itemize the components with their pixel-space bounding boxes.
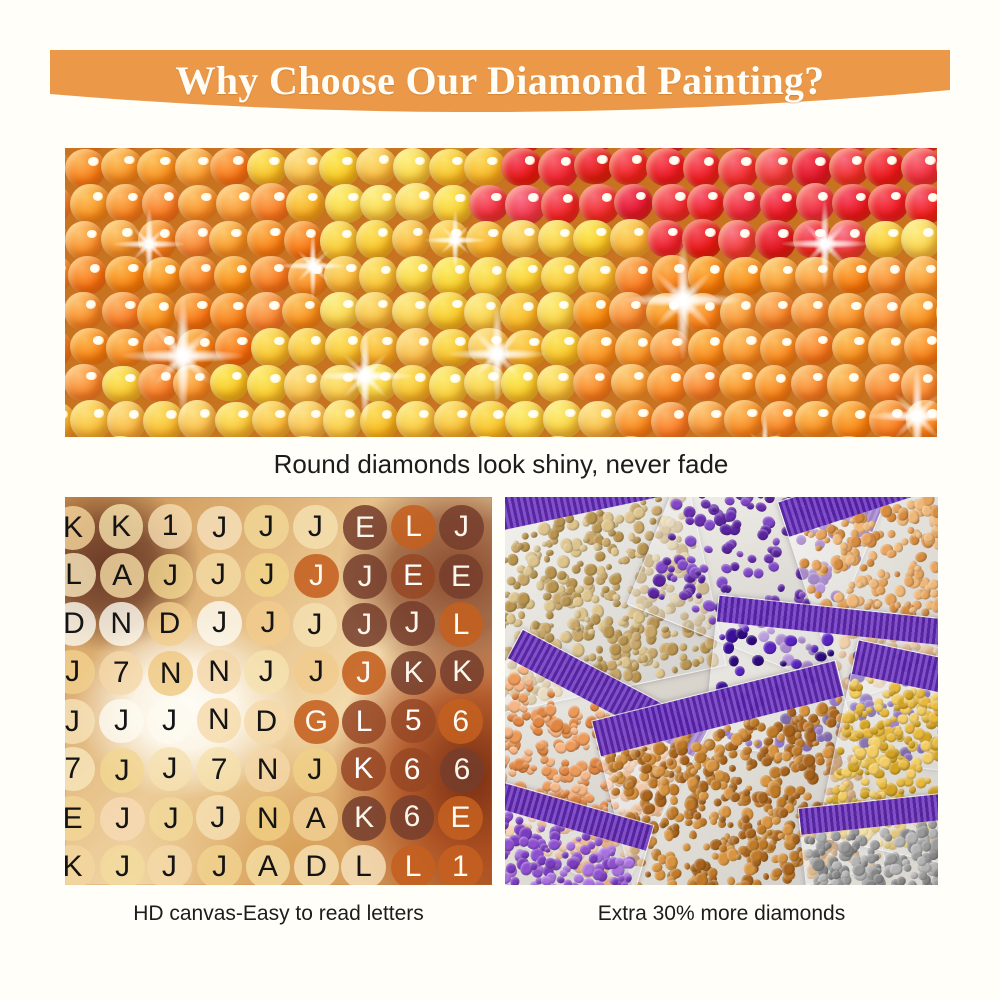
diamond-bead — [178, 400, 217, 437]
diamond-drill — [728, 750, 738, 759]
diamond-drill — [670, 630, 678, 637]
diamond-bead — [573, 292, 614, 331]
diamond-drill — [698, 790, 710, 801]
diamond-bead — [682, 219, 723, 259]
diamond-bead — [468, 328, 510, 365]
canvas-symbol-cell: E — [343, 505, 388, 550]
diamond-bead — [793, 220, 833, 258]
diamond-bead — [356, 220, 395, 260]
diamond-drill — [669, 574, 678, 583]
diamond-bead — [179, 256, 218, 293]
diamond-bead — [466, 221, 507, 260]
diamond-drill — [874, 599, 883, 608]
canvas-symbol-cell: J — [147, 699, 192, 744]
diamond-drill — [546, 689, 555, 698]
diamond-bead — [68, 256, 107, 294]
diamond-bead — [360, 185, 399, 223]
canvas-symbol-cell: 7 — [197, 747, 242, 792]
diamond-drill — [727, 821, 734, 828]
diamond-bead — [501, 364, 540, 403]
diamond-bead — [760, 185, 799, 223]
diamond-drill — [884, 718, 892, 726]
diamond-bead — [723, 184, 762, 222]
canvas-symbol-cell: J — [197, 601, 242, 646]
diamond-drill — [860, 777, 870, 786]
diamond-bead — [137, 149, 179, 187]
canvas-symbol-cell: J — [293, 603, 338, 648]
diamond-bead — [429, 366, 468, 406]
diamond-drill — [556, 554, 571, 569]
diamond-bead — [755, 292, 795, 329]
diamond-bead — [70, 328, 111, 365]
diamond-drill — [572, 596, 585, 608]
diamond-drill — [783, 634, 797, 647]
page-title: Why Choose Our Diamond Painting? — [50, 50, 950, 112]
diamond-drill — [814, 650, 827, 662]
diamond-drill — [666, 770, 675, 779]
canvas-symbol-cell: 6 — [390, 795, 435, 840]
canvas-symbol-cell: K — [342, 796, 387, 841]
diamond-drill — [742, 625, 749, 632]
diamond-bead — [396, 401, 437, 437]
diamond-drill — [910, 872, 919, 880]
diamond-bead — [578, 401, 619, 437]
diamond-drill — [751, 654, 764, 666]
diamond-bead — [247, 149, 288, 187]
diamond-bead — [868, 184, 909, 222]
diamond-drill — [840, 519, 850, 528]
diamond-bead — [282, 293, 323, 330]
canvas-symbol-cell: E — [439, 554, 484, 599]
diamond-bead — [611, 364, 652, 401]
canvas-symbol-cell: J — [244, 650, 289, 695]
canvas-symbol-cell: L — [391, 845, 436, 886]
diamond-drill — [776, 732, 786, 742]
diamond-drill — [595, 645, 604, 655]
diamond-bead — [396, 328, 436, 368]
diamond-drill — [658, 820, 666, 828]
diamond-drill — [735, 665, 746, 676]
diamond-drill — [821, 632, 834, 647]
diamond-drill — [883, 834, 892, 843]
canvas-symbol-cell: J — [293, 505, 338, 550]
bead-mosaic — [65, 148, 937, 437]
diamond-bead — [101, 220, 140, 258]
diamond-drill — [868, 519, 876, 528]
diamond-bead — [215, 328, 256, 366]
diamond-bead — [392, 365, 434, 403]
diamond-drill — [654, 497, 662, 503]
diamond-bead — [143, 257, 184, 295]
diamond-bead — [537, 365, 576, 402]
diamond-drill — [728, 655, 739, 667]
diamond-bead — [791, 365, 830, 402]
canvas-symbol-cell: D — [244, 700, 289, 745]
diamond-drill — [695, 591, 704, 600]
diamond-drill — [610, 787, 620, 797]
diamond-drill — [543, 555, 551, 563]
diamond-bead — [392, 292, 434, 331]
diamond-drill — [779, 660, 787, 667]
diamond-bead — [577, 329, 619, 369]
diamond-bead — [573, 364, 612, 402]
canvas-symbol-cell: N — [245, 747, 290, 792]
diamond-bead — [609, 292, 648, 329]
diamond-bead — [209, 221, 248, 258]
diamond-bead — [724, 400, 766, 437]
diamond-bead — [901, 365, 937, 405]
canvas-symbol-cell: 1 — [438, 845, 483, 886]
diamond-drill — [754, 501, 768, 514]
diamond-drill — [682, 843, 691, 852]
diamond-bead — [865, 221, 906, 258]
diamond-bead — [905, 256, 937, 295]
diamond-drill — [753, 740, 760, 747]
diamond-drill — [669, 796, 678, 806]
diamond-drill — [583, 563, 598, 577]
diamond-bead — [683, 364, 722, 401]
canvas-symbol-cell: G — [294, 700, 339, 745]
diamond-drill — [691, 645, 699, 653]
canvas-symbol-cell: J — [197, 506, 242, 551]
diamond-drill — [667, 532, 676, 541]
diamond-drill — [607, 573, 622, 586]
diamond-drill — [937, 824, 938, 831]
diamond-bead — [396, 256, 435, 294]
canvas-symbol-cell: J — [439, 505, 484, 550]
diamond-drill — [776, 583, 786, 593]
caption-round-diamonds: Round diamonds look shiny, never fade — [65, 449, 937, 480]
canvas-symbol-cell: J — [197, 845, 242, 886]
diamond-bead — [432, 257, 473, 296]
diamond-bead — [251, 328, 292, 367]
diamond-drill — [932, 879, 938, 885]
diamond-bead — [106, 329, 146, 366]
diamond-drill — [903, 863, 912, 872]
canvas-symbol-cell: L — [391, 505, 436, 550]
diamond-bead — [650, 329, 690, 367]
diamond-drill — [813, 590, 822, 599]
diamond-bead — [906, 400, 937, 437]
diamond-bead — [827, 364, 866, 404]
canvas-symbol-cell: J — [293, 748, 338, 793]
canvas-symbol-cell: D — [147, 602, 192, 647]
diamond-drill — [836, 746, 846, 755]
diamond-drill — [893, 570, 901, 579]
diamond-bead — [796, 183, 835, 222]
canvas-symbol-cell: 5 — [391, 699, 436, 744]
diamond-bead — [683, 148, 722, 188]
diamond-drill — [571, 564, 582, 575]
canvas-symbol-cell: K — [99, 504, 144, 549]
canvas-symbol-cell: J — [147, 845, 192, 886]
diamond-drill — [762, 873, 769, 881]
canvas-symbol-cell: J — [294, 554, 339, 599]
diamond-bead — [795, 257, 835, 294]
canvas-symbol-cell: K — [341, 747, 386, 792]
diamond-bead — [905, 184, 937, 224]
diamond-bead — [178, 185, 220, 222]
canvas-symbol-cell: D — [294, 845, 339, 886]
diamond-bead — [868, 328, 908, 368]
caption-hd-canvas: HD canvas-Easy to read letters — [65, 902, 492, 926]
diamond-bead — [904, 328, 937, 367]
diamond-bead — [795, 401, 836, 437]
diamond-bead — [433, 185, 473, 224]
diamond-drill — [736, 550, 745, 559]
diamond-bead — [541, 185, 580, 225]
diamond-bead — [247, 365, 288, 405]
diamond-bead — [500, 293, 541, 333]
diamond-bead — [142, 184, 181, 224]
diamond-bead — [615, 400, 657, 437]
diamond-drill — [908, 880, 917, 885]
diamond-drill — [530, 531, 538, 539]
diamond-bead — [687, 184, 726, 222]
diamond-drill — [897, 876, 907, 885]
diamond-bead — [688, 329, 728, 368]
product-feature-infographic: Why Choose Our Diamond Painting? Round d… — [0, 0, 1000, 1000]
diamond-bead — [360, 328, 399, 366]
canvas-symbol-cell: J — [246, 601, 291, 646]
diamond-bead — [578, 257, 618, 296]
diamond-bead — [832, 401, 874, 437]
canvas-symbol-cell: J — [100, 748, 145, 793]
canvas-symbol-cell: K — [440, 650, 485, 695]
diamond-drill — [908, 785, 917, 794]
diamond-bead — [143, 328, 182, 367]
diamond-bead — [541, 329, 582, 366]
diamond-bead — [469, 185, 510, 223]
canvas-symbol-cell: E — [391, 554, 436, 599]
diamond-bead — [434, 401, 475, 437]
diamond-bead — [210, 148, 251, 186]
diamond-bead — [355, 292, 395, 329]
diamond-bead — [107, 401, 147, 437]
diamond-drill — [742, 566, 755, 579]
diamond-bead — [464, 364, 506, 402]
canvas-symbol-cell: L — [439, 602, 484, 647]
canvas-symbol-cell: N — [148, 651, 193, 696]
diamond-drill — [763, 641, 777, 655]
diamond-bead — [723, 328, 764, 368]
diamond-drill — [689, 830, 698, 840]
diamond-bead — [393, 148, 432, 186]
diamond-drill — [521, 532, 529, 540]
diamond-drill — [605, 563, 612, 570]
canvas-symbol-cell: N — [246, 796, 291, 841]
canvas-symbol-cell: J — [148, 554, 193, 599]
diamond-bead — [65, 221, 104, 260]
diamond-bead — [288, 328, 328, 366]
diamond-bead — [247, 220, 288, 258]
diamond-drill — [815, 545, 823, 553]
diamond-drill — [894, 836, 906, 847]
diamond-bead — [70, 184, 111, 224]
diamond-bead — [537, 292, 576, 332]
diamond-bead — [869, 400, 911, 437]
diamond-bead — [755, 220, 796, 259]
diamond-bead — [538, 220, 577, 258]
diamond-drill — [900, 537, 909, 546]
diamond-drill — [644, 870, 652, 878]
diamond-bead — [652, 255, 692, 295]
diamond-bead — [359, 257, 398, 296]
diamond-bead — [719, 364, 760, 401]
diamond-bead — [651, 402, 691, 437]
canvas-symbol-cell: J — [342, 603, 387, 648]
diamond-drill — [579, 544, 588, 552]
diamond-drill — [745, 634, 757, 646]
diamond-drill — [928, 560, 938, 574]
diamond-bead — [755, 365, 794, 404]
diamond-bead — [65, 364, 104, 401]
canvas-symbol-cell: J — [245, 553, 290, 598]
diamond-drill — [671, 666, 679, 674]
diamond-drill — [669, 497, 684, 512]
canvas-symbol-cell: E — [438, 796, 483, 841]
diamond-bead — [718, 149, 759, 189]
diamond-bead — [65, 292, 103, 331]
canvas-symbol-cell: J — [196, 795, 241, 840]
diamond-bead — [429, 220, 469, 258]
diamond-bead — [538, 148, 579, 188]
diamond-bead — [320, 365, 362, 405]
diamond-bead — [718, 220, 757, 260]
diamond-bead — [323, 400, 362, 437]
diamond-bead — [215, 402, 257, 437]
diamond-bead — [760, 329, 799, 368]
diamond-bead — [106, 184, 145, 223]
diamond-drill — [760, 755, 773, 768]
diamond-bead — [319, 148, 360, 187]
canvas-symbol-cell: J — [99, 699, 144, 744]
diamond-drill — [723, 497, 736, 507]
canvas-symbol-cell: 1 — [148, 504, 193, 549]
diamond-drill — [678, 642, 688, 651]
canvas-symbol-cell: J — [342, 651, 387, 696]
diamond-drill — [807, 836, 815, 845]
diamond-bead — [65, 148, 72, 151]
diamond-drill — [691, 604, 701, 613]
diamond-drill — [890, 884, 897, 885]
diamond-bead — [646, 148, 687, 186]
diamond-bead — [868, 257, 907, 295]
diamond-bead — [828, 220, 867, 260]
diamond-bead — [901, 148, 937, 186]
canvas-symbol-cell: J — [100, 797, 145, 842]
diamond-drill — [798, 557, 811, 569]
diamond-bead — [173, 365, 212, 402]
diamond-bead — [610, 219, 651, 258]
diamond-bead — [138, 220, 177, 259]
diamond-drill — [718, 634, 725, 641]
diamond-bead — [137, 293, 176, 333]
diamond-drill — [723, 642, 734, 655]
diamond-drill — [893, 704, 900, 711]
diamond-bead — [647, 220, 686, 257]
diamond-bead — [286, 185, 325, 222]
diamond-bead — [284, 221, 323, 260]
diamond-drill — [924, 777, 932, 785]
diamond-drill — [848, 832, 856, 840]
canvas-symbol-cell: 6 — [440, 748, 485, 793]
diamond-bead — [432, 329, 473, 366]
canvas-symbol-cell: J — [244, 505, 289, 550]
caption-extra-diamonds: Extra 30% more diamonds — [505, 902, 938, 926]
diamond-bead — [900, 293, 937, 332]
diamond-drill — [808, 531, 816, 539]
diamond-drill — [594, 550, 606, 562]
canvas-symbol-cell: J — [390, 601, 435, 646]
diamond-drill — [728, 764, 736, 772]
diamond-drill — [641, 746, 648, 753]
canvas-symbol-cell: J — [343, 554, 388, 599]
extra-diamonds-photo — [505, 497, 938, 885]
diamond-bead — [614, 184, 653, 221]
diamond-bead — [105, 256, 147, 294]
canvas-symbol-cell: J — [149, 797, 194, 842]
canvas-symbol-cell: L — [341, 845, 386, 886]
diamond-bead — [791, 293, 831, 330]
diamond-drill — [703, 545, 713, 555]
diamond-drill — [655, 668, 666, 680]
diamond-drill — [886, 529, 896, 539]
diamond-bead — [755, 148, 796, 186]
diamond-drill — [651, 572, 667, 588]
diamond-drill — [931, 868, 938, 877]
diamond-bead — [214, 256, 254, 295]
diamond-bead — [683, 293, 723, 333]
diamond-bead — [177, 329, 217, 369]
diamond-bead — [395, 183, 437, 221]
diamond-bead — [901, 219, 937, 259]
diamond-bead — [464, 148, 506, 186]
diamond-bead — [392, 220, 431, 258]
diamond-bead — [505, 401, 546, 437]
diamond-bead — [688, 256, 727, 295]
diamond-bead — [720, 293, 759, 333]
diamond-bead — [70, 400, 112, 437]
diamond-drill — [830, 831, 841, 842]
diamond-bead — [469, 257, 509, 297]
diamond-bead — [502, 220, 543, 257]
canvas-symbol-cell: K — [391, 651, 436, 696]
diamond-bead — [609, 148, 648, 185]
diamond-bead — [360, 401, 399, 437]
diamond-drill — [683, 533, 698, 547]
diamond-bead — [464, 293, 503, 332]
diamond-bead — [864, 148, 904, 187]
diamond-bead — [320, 221, 360, 261]
diamond-drill — [697, 574, 707, 584]
diamond-bead — [832, 328, 872, 366]
diamond-bead — [573, 220, 614, 257]
canvas-symbol-cell: 6 — [438, 699, 483, 744]
diamond-drill — [610, 547, 620, 558]
header-banner: Why Choose Our Diamond Painting? — [50, 50, 950, 112]
diamond-bead — [864, 293, 906, 333]
diamond-drill — [818, 848, 825, 856]
canvas-symbol-cell: J — [100, 845, 145, 886]
diamond-bead — [174, 293, 215, 330]
diamond-bead — [501, 148, 543, 186]
diamond-drill — [889, 863, 903, 875]
diamond-bead — [615, 257, 656, 297]
canvas-symbol-cell: A — [100, 553, 145, 598]
diamond-bead — [646, 293, 687, 331]
diamond-bead — [792, 148, 832, 188]
